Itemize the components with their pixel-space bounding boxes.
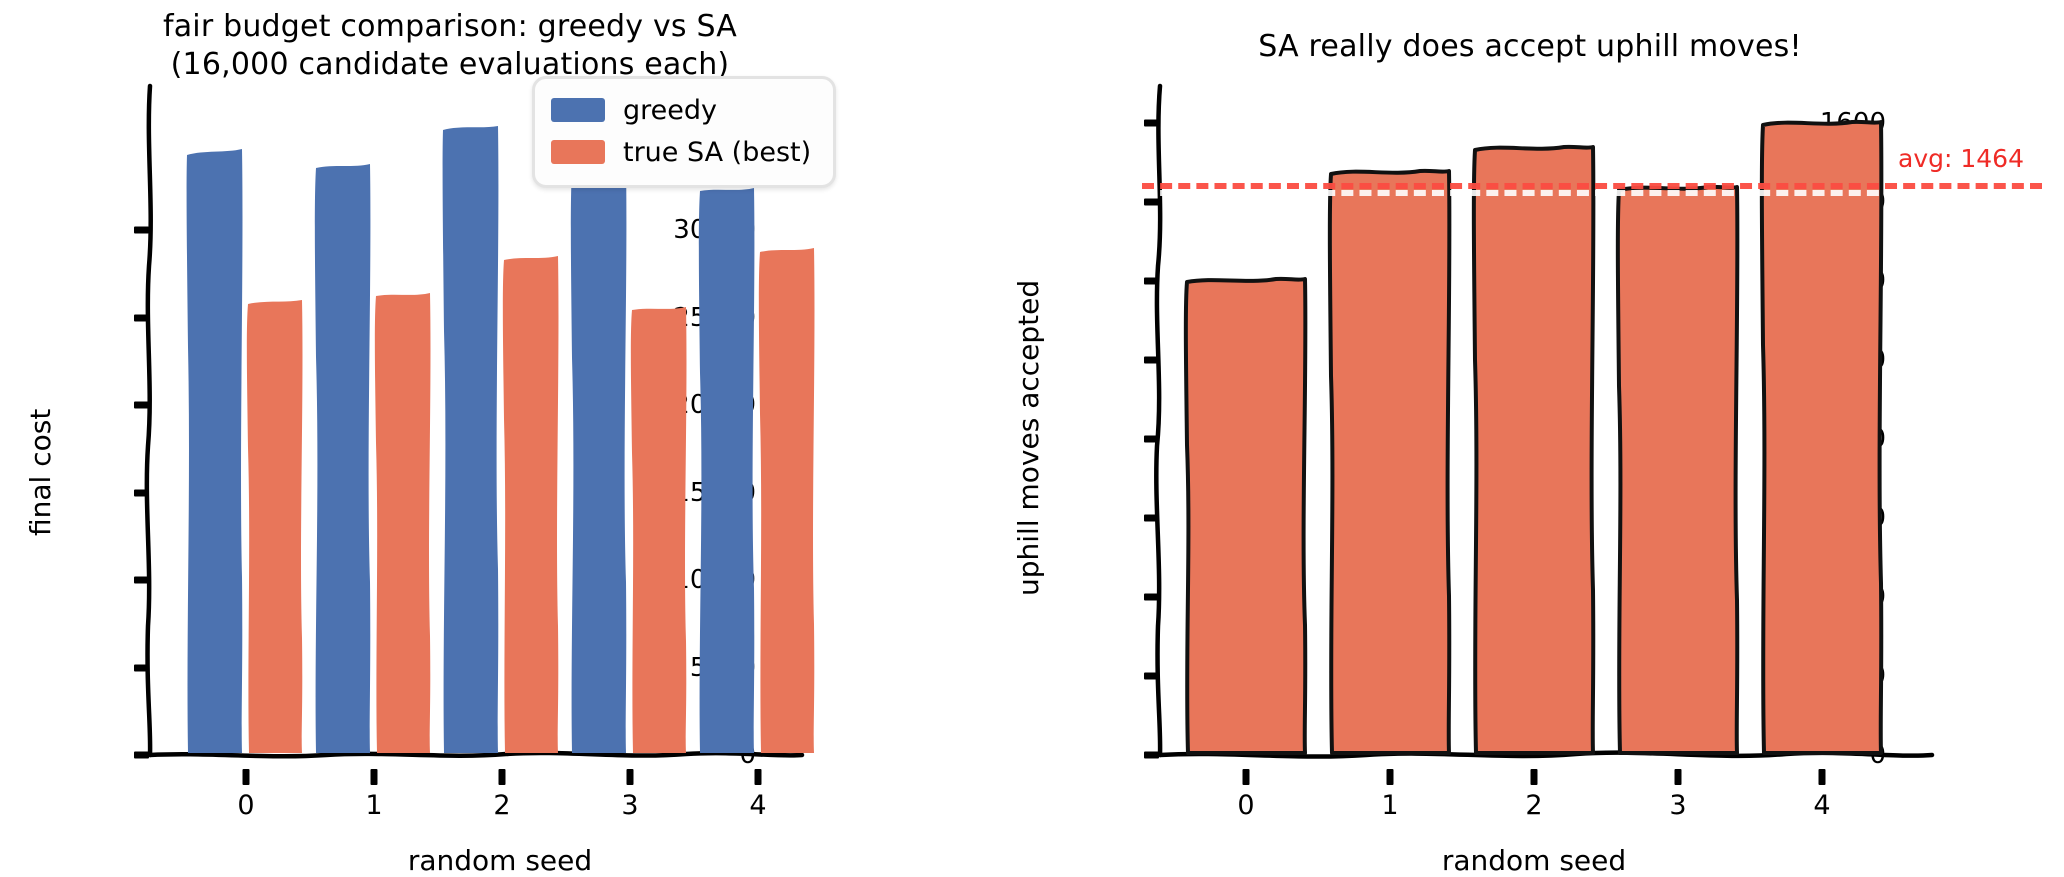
right-xtick-mark-2 [1531, 769, 1538, 785]
left-ytick-mark-10000 [134, 577, 149, 584]
bar-greedy-seed1 [314, 162, 372, 755]
left-xtick-label-3: 3 [621, 790, 638, 821]
legend-entry-sa[interactable]: true SA (best) [551, 131, 811, 173]
left-ytick-mark-5000 [134, 665, 149, 672]
legend-label-greedy: greedy [623, 95, 717, 126]
right-xtick-mark-4 [1819, 769, 1826, 785]
left-xtick-mark-2 [499, 769, 506, 785]
left-xtick-mark-3 [627, 769, 634, 785]
right-ytick-mark-1600 [1144, 120, 1159, 127]
right-xtick-label-2: 2 [1525, 790, 1542, 821]
right-ytick-mark-800 [1144, 436, 1159, 443]
right-xtick-label-4: 4 [1813, 790, 1830, 821]
left-xtick-label-4: 4 [749, 790, 766, 821]
right-ytick-mark-1400 [1144, 199, 1159, 206]
bar-uphill-seed1 [1328, 166, 1452, 755]
right-ytick-mark-1000 [1144, 357, 1159, 364]
left-xtick-mark-4 [755, 769, 762, 785]
legend-label-sa: true SA (best) [623, 137, 811, 168]
bar-greedy-seed3 [570, 164, 628, 755]
right-xtick-label-0: 0 [1237, 790, 1254, 821]
right-chart-panel: SA really does accept uphill moves! 0 20… [1000, 0, 2064, 866]
right-chart-title: SA really does accept uphill moves! [1120, 28, 1940, 66]
right-plot-area: 0 200 400 600 800 1000 1200 1400 1600 [1160, 96, 1920, 755]
bar-uphill-seed4 [1760, 117, 1884, 755]
left-ytick-mark-30000 [134, 227, 149, 234]
legend-swatch-greedy-icon [551, 98, 605, 122]
bar-uphill-seed3 [1616, 182, 1740, 755]
right-ytick-mark-0 [1144, 752, 1159, 759]
avg-hline-1464 [1142, 183, 2042, 189]
left-ytick-mark-25000 [134, 315, 149, 322]
left-ytick-mark-0 [134, 752, 149, 759]
bar-greedy-seed0 [186, 147, 244, 755]
bar-sa-seed3 [630, 305, 688, 755]
right-ytick-mark-200 [1144, 673, 1159, 680]
left-xtick-mark-1 [371, 769, 378, 785]
legend-entry-greedy[interactable]: greedy [551, 89, 811, 131]
bar-sa-seed1 [374, 291, 432, 755]
left-yaxis-label: final cost [24, 409, 57, 536]
legend-swatch-sa-icon [551, 140, 605, 164]
bar-sa-seed2 [502, 254, 560, 755]
bar-greedy-seed2 [442, 123, 500, 755]
right-ytick-mark-400 [1144, 594, 1159, 601]
bar-uphill-seed0 [1184, 275, 1308, 755]
right-xtick-mark-3 [1675, 769, 1682, 785]
bar-sa-seed0 [246, 298, 304, 755]
avg-annotation-label: avg: 1464 [1898, 144, 2024, 173]
left-ytick-mark-15000 [134, 490, 149, 497]
left-xtick-mark-0 [243, 769, 250, 785]
left-xtick-label-0: 0 [237, 790, 254, 821]
left-xtick-label-2: 2 [493, 790, 510, 821]
left-ytick-mark-20000 [134, 402, 149, 409]
right-yaxis-label: uphill moves accepted [1012, 280, 1045, 596]
right-xaxis-label: random seed [1442, 844, 1626, 877]
right-xtick-label-1: 1 [1381, 790, 1398, 821]
right-xtick-mark-1 [1387, 769, 1394, 785]
bar-uphill-seed2 [1472, 142, 1596, 755]
left-xtick-label-1: 1 [365, 790, 382, 821]
left-chart-title: fair budget comparison: greedy vs SA (16… [90, 8, 810, 84]
right-xtick-mark-0 [1243, 769, 1250, 785]
right-ytick-mark-1200 [1144, 278, 1159, 285]
left-plot-area: 0 5000 10000 15000 20000 25000 30000 fin… [150, 96, 790, 755]
avg-line-shadow [1142, 190, 2042, 196]
bar-sa-seed4 [758, 246, 816, 755]
left-chart-panel: fair budget comparison: greedy vs SA (16… [0, 0, 1000, 866]
right-ytick-mark-600 [1144, 515, 1159, 522]
left-xaxis-label: random seed [408, 844, 592, 877]
bar-greedy-seed4 [698, 186, 756, 755]
right-xtick-label-3: 3 [1669, 790, 1686, 821]
left-chart-legend[interactable]: greedy true SA (best) [532, 76, 836, 188]
figure-canvas: fair budget comparison: greedy vs SA (16… [0, 0, 2064, 866]
